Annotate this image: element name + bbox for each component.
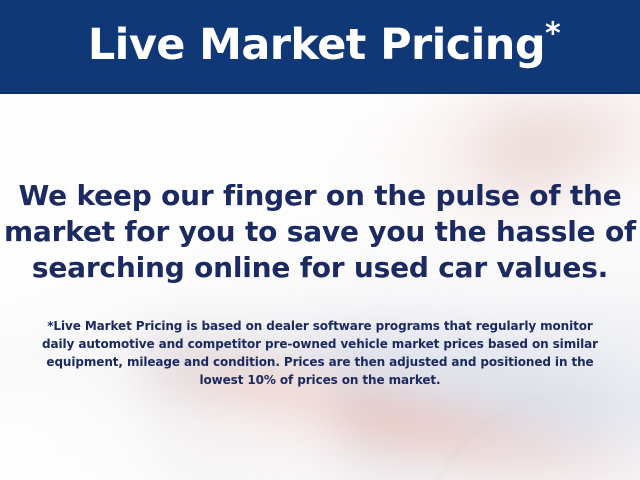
header-bar: Live Market Pricing* — [0, 0, 640, 92]
headline-block: We keep our finger on the pulse of the m… — [0, 178, 640, 286]
disclaimer-line-3: equipment, mileage and condition. Prices… — [0, 353, 640, 371]
live-market-pricing-banner: Live Market Pricing* We keep our finger … — [0, 0, 640, 480]
header-underline-rule — [0, 92, 640, 94]
page-title-asterisk: * — [545, 16, 560, 51]
headline-line-2: market for you to save you the hassle of — [0, 214, 640, 250]
page-title-text: Live Market Pricing — [88, 20, 545, 70]
disclaimer-line-1: *Live Market Pricing is based on dealer … — [0, 317, 640, 335]
disclaimer-block: *Live Market Pricing is based on dealer … — [0, 317, 640, 389]
headline-line-3: searching online for used car values. — [0, 250, 640, 286]
page-title: Live Market Pricing* — [80, 24, 560, 67]
background-photo-wash-overlay — [0, 92, 640, 480]
background-car-photo — [0, 92, 640, 480]
disclaimer-line-2: daily automotive and competitor pre-owne… — [0, 335, 640, 353]
headline-line-1: We keep our finger on the pulse of the — [0, 178, 640, 214]
disclaimer-line-4: lowest 10% of prices on the market. — [0, 371, 640, 389]
